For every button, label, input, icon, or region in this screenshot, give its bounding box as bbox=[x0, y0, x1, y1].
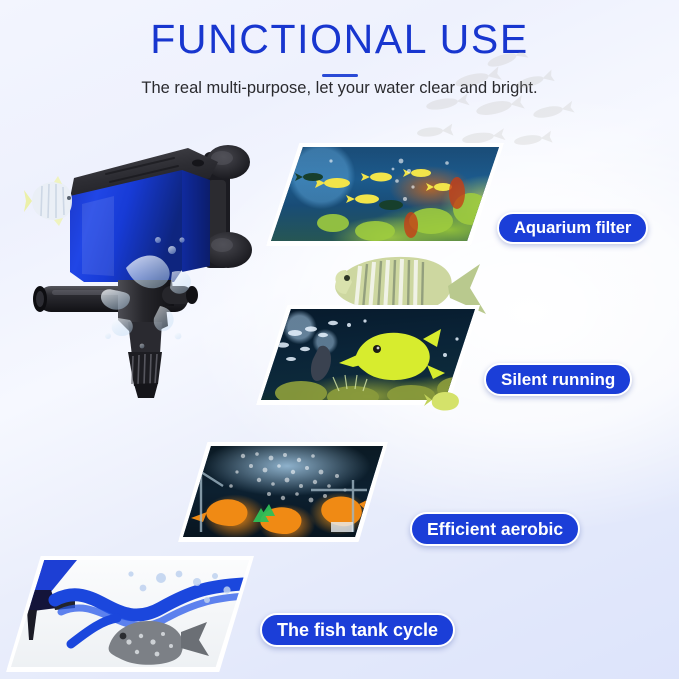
small-yellow-fish-decoration bbox=[424, 386, 464, 414]
photo-detail-fish-layer bbox=[271, 147, 499, 241]
feature-photo-fish-tank-cycle bbox=[6, 556, 254, 672]
feature-photo-efficient-aerobic bbox=[178, 442, 388, 542]
photo-detail-bubbles-layer bbox=[183, 446, 383, 537]
grey-fish bbox=[109, 621, 209, 665]
outlet-strainer bbox=[118, 280, 198, 398]
feature-label-aquarium-filter[interactable]: Aquarium filter bbox=[497, 212, 648, 244]
promotional-banner: FUNCTIONAL USE The real multi-purpose, l… bbox=[0, 0, 679, 679]
feature-label-silent-running[interactable]: Silent running bbox=[484, 363, 632, 396]
feature-label-fish-tank-cycle[interactable]: The fish tank cycle bbox=[260, 613, 455, 647]
pale-angelfish-decoration bbox=[24, 176, 76, 226]
photo-detail-water-layer bbox=[11, 560, 249, 667]
photo-aerated-tank bbox=[183, 446, 383, 537]
feature-label-efficient-aerobic[interactable]: Efficient aerobic bbox=[410, 512, 580, 546]
feature-photo-aquarium-filter bbox=[266, 143, 504, 246]
photo-water-cycle bbox=[11, 560, 249, 667]
photo-aquarium bbox=[271, 147, 499, 241]
